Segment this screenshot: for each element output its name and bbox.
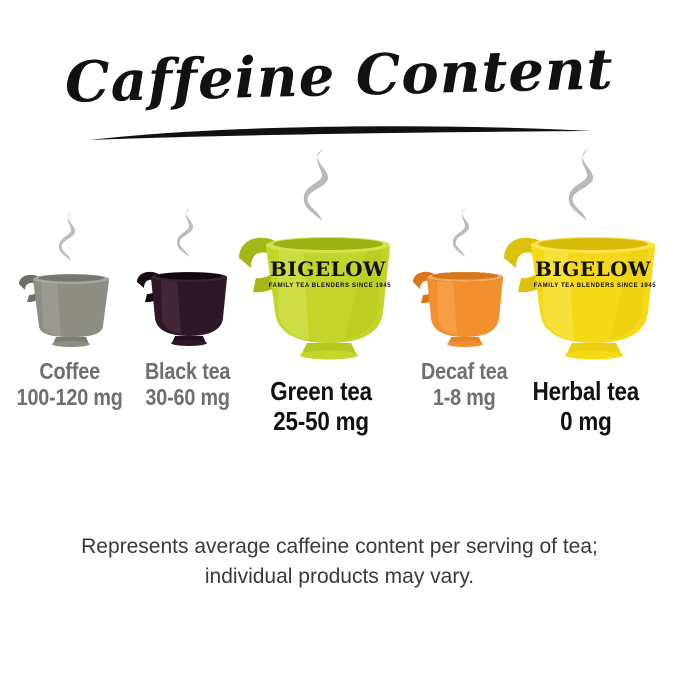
page-title: Caffeine Content	[65, 39, 615, 112]
cup-amount-black-tea: 30-60 mg	[145, 384, 230, 411]
steam-icon-black-tea	[173, 206, 203, 260]
cup-shape-black-tea	[129, 256, 247, 352]
cup-label-herbal-tea: Herbal tea	[533, 376, 639, 406]
page-title-wrap: Caffeine Content	[0, 46, 679, 106]
infographic-root: Caffeine Content	[0, 0, 679, 679]
footnote-line-1: Represents average caffeine content per …	[0, 532, 679, 562]
cup-cell-herbal-tea: BIGELOW FAMILY TEA BLENDERS SINCE 1945 H…	[496, 214, 676, 437]
cup-shape-coffee	[11, 262, 129, 352]
cup-art-herbal-tea: BIGELOW FAMILY TEA BLENDERS SINCE 1945	[500, 214, 672, 366]
cup-amount-coffee: 100-120 mg	[17, 384, 123, 411]
svg-text:FAMILY TEA BLENDERS SINCE 1945: FAMILY TEA BLENDERS SINCE 1945	[269, 283, 392, 289]
cup-shape-herbal-tea: BIGELOW FAMILY TEA BLENDERS SINCE 1945	[500, 214, 672, 366]
cup-cell-coffee: Coffee 100-120 mg	[6, 262, 134, 411]
steam-icon-green-tea	[298, 146, 344, 224]
footnote-line-2: individual products may vary.	[0, 562, 679, 592]
cup-amount-decaf-tea: 1-8 mg	[421, 384, 507, 411]
cup-label-coffee: Coffee	[17, 358, 123, 384]
cup-amount-herbal-tea: 0 mg	[533, 406, 639, 437]
title-underline-swash	[88, 120, 593, 142]
cup-art-coffee	[11, 262, 129, 352]
cup-amount-green-tea: 25-50 mg	[270, 406, 372, 437]
steam-icon-decaf-tea	[449, 206, 479, 260]
cup-art-green-tea: BIGELOW FAMILY TEA BLENDERS SINCE 1945	[235, 214, 407, 366]
footnote: Represents average caffeine content per …	[0, 532, 679, 592]
steam-icon-coffee	[55, 210, 85, 264]
labels-black-tea: Black tea 30-60 mg	[138, 358, 237, 411]
cup-shape-green-tea: BIGELOW FAMILY TEA BLENDERS SINCE 1945	[235, 214, 407, 366]
steam-icon-herbal-tea	[563, 146, 609, 224]
labels-coffee: Coffee 100-120 mg	[8, 358, 131, 411]
labels-herbal-tea: Herbal tea 0 mg	[524, 376, 648, 437]
cup-label-decaf-tea: Decaf tea	[421, 358, 507, 384]
labels-green-tea: Green tea 25-50 mg	[262, 376, 380, 437]
cup-art-black-tea	[129, 256, 247, 352]
svg-text:BIGELOW: BIGELOW	[270, 257, 386, 281]
cups-row: Coffee 100-120 mg	[0, 200, 679, 470]
cup-label-green-tea: Green tea	[270, 376, 372, 406]
svg-text:BIGELOW: BIGELOW	[535, 257, 651, 281]
svg-text:FAMILY TEA BLENDERS SINCE 1945: FAMILY TEA BLENDERS SINCE 1945	[534, 283, 657, 289]
cup-cell-green-tea: BIGELOW FAMILY TEA BLENDERS SINCE 1945 G…	[231, 214, 411, 437]
brand-logo-green-tea: BIGELOW FAMILY TEA BLENDERS SINCE 1945	[269, 257, 392, 289]
cup-label-black-tea: Black tea	[145, 358, 230, 384]
brand-logo-herbal-tea: BIGELOW FAMILY TEA BLENDERS SINCE 1945	[534, 257, 657, 289]
